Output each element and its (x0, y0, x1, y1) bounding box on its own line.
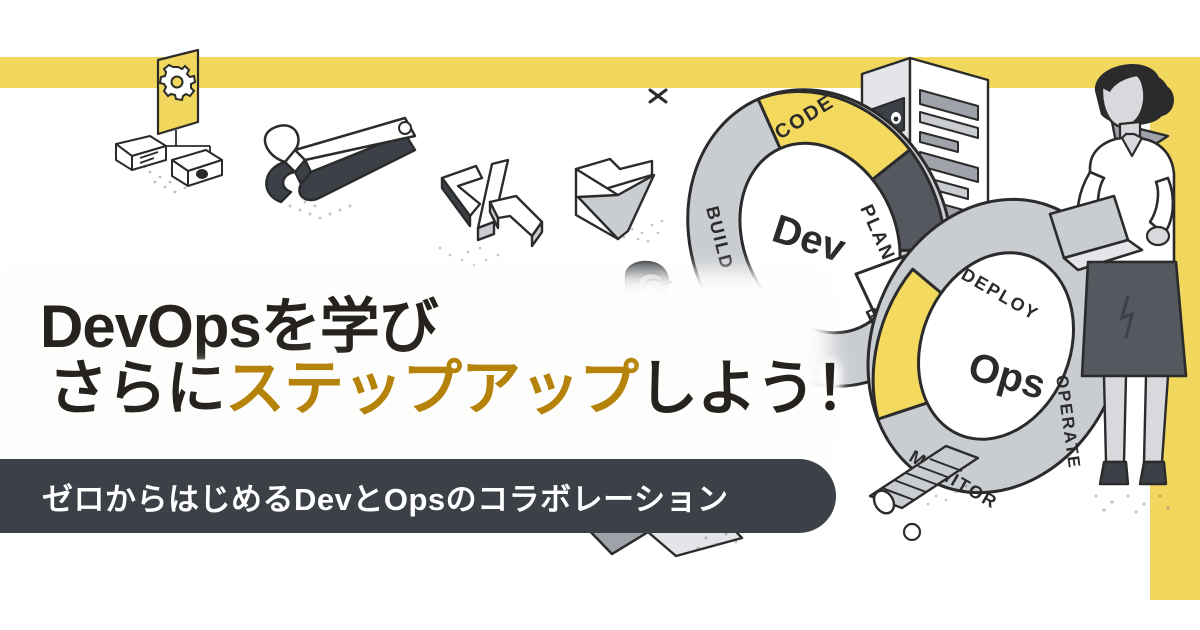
ops-person-icon (1056, 56, 1196, 526)
headline-block: DevOpsを学び さらにステップアップしよう！ (40, 296, 874, 420)
headline-accent: ステップアップ (225, 355, 638, 422)
gear-card-icon (110, 50, 240, 210)
headline-suffix: しよう！ (638, 355, 874, 422)
banner-canvas: </> (0, 0, 1200, 630)
headline-line-2: さらにステップアップしよう！ (40, 358, 874, 420)
headline-line-1: DevOpsを学び (40, 296, 874, 358)
subtitle-text: ゼロからはじめるDevとOpsのコラボレーション (42, 474, 729, 519)
headline-prefix: さらに (48, 355, 225, 422)
pipe-icon (866, 440, 986, 520)
small-circle-icon-2 (900, 520, 926, 546)
subtitle-bar: ゼロからはじめるDevとOpsのコラボレーション (0, 459, 836, 533)
wrench-icon (245, 110, 445, 240)
